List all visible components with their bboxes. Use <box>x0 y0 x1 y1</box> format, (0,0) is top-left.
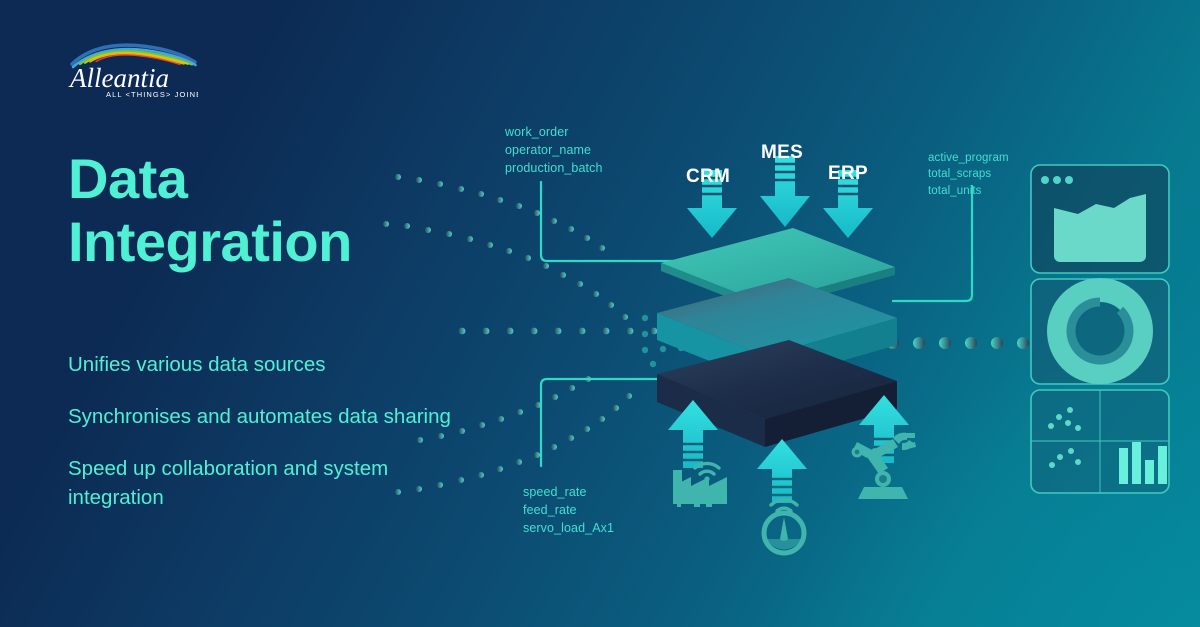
inbound-label-erp-text: ERP <box>828 163 868 184</box>
factory-wifi-icon <box>673 463 727 507</box>
inbound-label-mes-text: MES <box>761 142 803 163</box>
tag-list-bottom-left: speed_rate feed_rate servo_load_Ax1 <box>523 484 614 537</box>
source-arrow-gauge <box>757 439 807 503</box>
benefit-item-1: Unifies various data sources <box>68 350 488 379</box>
benefit-list: Unifies various data sources Synchronise… <box>68 350 488 512</box>
area-chart-card <box>1031 165 1169 273</box>
brand-name: Alleantia <box>68 63 169 93</box>
grid-chart-card <box>1031 390 1169 493</box>
tag-list-top-left: work_order operator_name production_batc… <box>505 124 603 177</box>
benefit-item-2: Synchronises and automates data sharing <box>68 402 488 431</box>
inbound-label-erp: ERP <box>828 163 868 185</box>
inbound-label-crm: CRM <box>686 166 730 188</box>
window-dots-icon <box>1041 176 1073 184</box>
inbound-label-crm-text: CRM <box>686 166 730 187</box>
dashboard-preview-panel <box>1030 164 1170 494</box>
inbound-arrow-mes <box>760 156 810 227</box>
tag-list-top-right: active_program total_scraps total_units <box>928 150 1009 199</box>
inbound-label-mes: MES <box>761 142 803 164</box>
benefit-item-3: Speed up collaboration and system integr… <box>68 454 488 512</box>
page-title: Data Integration <box>68 148 352 273</box>
brand-tagline: ALL <THINGS> JOINED <box>106 90 198 99</box>
brand-logo[interactable]: Alleantia ALL <THINGS> JOINED <box>68 38 198 100</box>
donut-chart-card <box>1031 279 1169 384</box>
infographic-canvas: CRM MES ERP work_order operator_name pro… <box>0 0 1200 627</box>
gauge-wifi-icon <box>764 500 804 553</box>
